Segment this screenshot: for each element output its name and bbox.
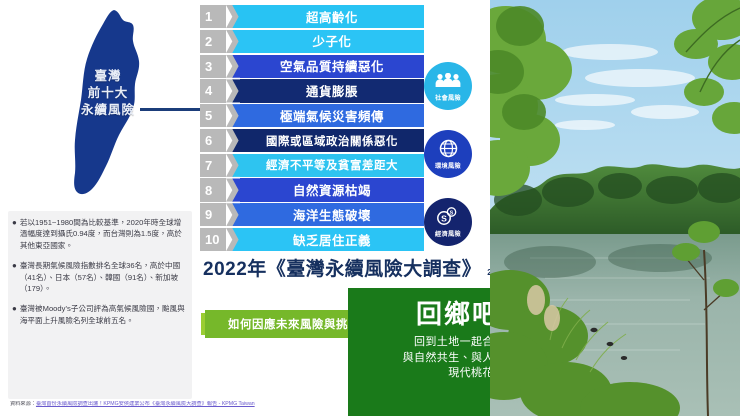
badge-label: 環境風險 xyxy=(435,161,461,170)
risk-rank-list: 1 超高齡化 2 少子化 3 空氣品質持續惡化 4 通貨膨脹 xyxy=(200,5,424,253)
map-to-list-connector-line xyxy=(140,108,200,111)
rank-label: 國際或區域政治關係惡化 xyxy=(240,129,424,152)
rank-label: 經濟不平等及貧富差距大 xyxy=(240,154,424,177)
table-row[interactable]: 6 國際或區域政治關係惡化 xyxy=(200,129,424,152)
table-row[interactable]: 7 經濟不平等及貧富差距大 xyxy=(200,154,424,177)
rank-number: 3 xyxy=(200,55,226,78)
table-row[interactable]: 9 海洋生態破壞 xyxy=(200,203,424,226)
map-caption-line-1: 臺灣 xyxy=(56,68,160,85)
rank-number: 6 xyxy=(200,129,226,152)
source-line: 資料來源：臺灣首份永續風險調查出爐！KPMG安侯建業公布《臺灣永續風險大調查》報… xyxy=(10,401,370,408)
coins-icon: S S xyxy=(437,207,459,227)
map-caption: 臺灣 前十大 永續風險 xyxy=(56,68,160,119)
table-row[interactable]: 4 通貨膨脹 xyxy=(200,79,424,102)
rank-arrow-icon xyxy=(226,79,240,102)
svg-text:S: S xyxy=(441,213,447,223)
rank-label: 缺乏居住正義 xyxy=(240,228,424,251)
rank-arrow-icon xyxy=(226,30,240,53)
table-row[interactable]: 10 缺乏居住正義 xyxy=(200,228,424,251)
table-row[interactable]: 5 極端氣候災害頻傳 xyxy=(200,104,424,127)
survey-title-block: 2022年《臺灣永續風險大調查》 2022/08/26 xyxy=(203,254,529,281)
list-item: ● 若以1951~1980間為比較基準，2020年時全球增溫幅度達到攝氏0.94… xyxy=(12,217,186,251)
risk-category-badges: 社會風險 環境風險 S S 經濟 xyxy=(424,62,482,266)
taiwan-map-zone: 臺灣 前十大 永續風險 xyxy=(0,0,196,210)
rank-label: 自然資源枯竭 xyxy=(240,178,424,201)
bullet-icon: ● xyxy=(12,217,17,251)
rank-arrow-icon xyxy=(226,228,240,251)
rank-label: 空氣品質持續惡化 xyxy=(240,55,424,78)
rank-label: 超高齡化 xyxy=(240,5,424,28)
table-row[interactable]: 1 超高齡化 xyxy=(200,5,424,28)
bullet-icon: ● xyxy=(12,260,17,294)
rank-number: 2 xyxy=(200,30,226,53)
rank-label: 海洋生態破壞 xyxy=(240,203,424,226)
note-text: 若以1951~1980間為比較基準，2020年時全球增溫幅度達到攝氏0.94度，… xyxy=(20,217,186,251)
rank-arrow-icon xyxy=(226,129,240,152)
table-row[interactable]: 8 自然資源枯竭 xyxy=(200,178,424,201)
landscape-photo xyxy=(490,0,740,416)
rank-number: 9 xyxy=(200,203,226,226)
rank-number: 5 xyxy=(200,104,226,127)
source-prefix: 資料來源： xyxy=(10,401,36,407)
slide-root: 臺灣 前十大 永續風險 1 超高齡化 2 少子化 3 空氣品質持續惡化 xyxy=(0,0,740,416)
rank-arrow-icon xyxy=(226,55,240,78)
source-link[interactable]: 臺灣首份永續風險調查出爐！KPMG安侯建業公布《臺灣永續風險大調查》報告 - K… xyxy=(36,401,255,407)
climate-notes-panel: ● 若以1951~1980間為比較基準，2020年時全球增溫幅度達到攝氏0.94… xyxy=(8,211,192,399)
table-row[interactable]: 3 空氣品質持續惡化 xyxy=(200,55,424,78)
rank-number: 1 xyxy=(200,5,226,28)
note-text: 臺灣長期氣候風險指數排名全球36名，高於中國（41名）、日本（57名）、韓國（9… xyxy=(20,260,186,294)
table-row[interactable]: 2 少子化 xyxy=(200,30,424,53)
rank-arrow-icon xyxy=(226,203,240,226)
badge-label: 經濟風險 xyxy=(435,229,461,238)
people-icon xyxy=(435,71,461,91)
badge-label: 社會風險 xyxy=(435,93,461,102)
bullet-icon: ● xyxy=(12,303,17,326)
badge-environment-risk[interactable]: 環境風險 xyxy=(424,130,472,178)
list-item: ● 臺灣被Moody’s子公司評為高氣候風險國，颱風與海平面上升風險名列全球前五… xyxy=(12,303,186,326)
note-text: 臺灣被Moody’s子公司評為高氣候風險國，颱風與海平面上升風險名列全球前五名。 xyxy=(20,303,186,326)
map-caption-line-2: 前十大 xyxy=(56,85,160,102)
rank-number: 8 xyxy=(200,178,226,201)
rank-number: 10 xyxy=(200,228,226,251)
rank-arrow-icon xyxy=(226,5,240,28)
rank-arrow-icon xyxy=(226,154,240,177)
globe-icon xyxy=(439,139,458,159)
rank-label: 少子化 xyxy=(240,30,424,53)
rank-arrow-icon xyxy=(226,178,240,201)
rank-number: 4 xyxy=(200,79,226,102)
rank-arrow-icon xyxy=(226,104,240,127)
list-item: ● 臺灣長期氣候風險指數排名全球36名，高於中國（41名）、日本（57名）、韓國… xyxy=(12,260,186,294)
badge-social-risk[interactable]: 社會風險 xyxy=(424,62,472,110)
badge-economy-risk[interactable]: S S 經濟風險 xyxy=(424,198,472,246)
rank-number: 7 xyxy=(200,154,226,177)
rank-label: 極端氣候災害頻傳 xyxy=(240,104,424,127)
rank-label: 通貨膨脹 xyxy=(240,79,424,102)
page-title: 2022年《臺灣永續風險大調查》 xyxy=(203,254,481,281)
